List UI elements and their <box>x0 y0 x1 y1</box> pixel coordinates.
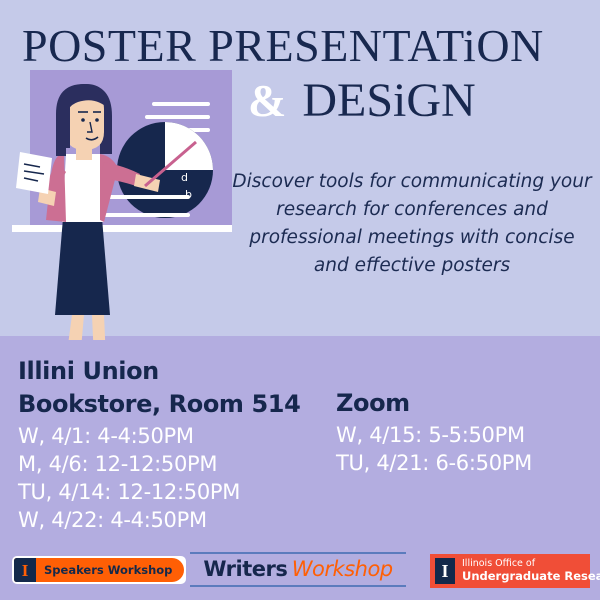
board-ledge <box>12 225 232 232</box>
figure-skirt <box>55 218 110 315</box>
illinois-i-glyph: I <box>441 562 448 580</box>
figure-top <box>62 154 104 222</box>
decorative-glyph: q <box>185 189 192 202</box>
logo-writers-workshop: Writers Workshop <box>190 552 406 587</box>
session-item: W, 4/22: 4-4:50PM <box>18 506 328 534</box>
ampersand-glyph: & <box>248 75 286 126</box>
headline-design-word: DESiGN <box>302 74 475 127</box>
description-text: Discover tools for communicating your re… <box>232 168 592 280</box>
presenter-illustration: p q <box>0 70 232 340</box>
session-item: M, 4/6: 12-12:50PM <box>18 450 328 478</box>
illinois-i-icon: I <box>435 558 455 584</box>
headline-line-2: &DESiGN <box>248 74 598 128</box>
logo-workshop-word: Workshop <box>292 557 393 581</box>
decorative-glyph: p <box>181 172 188 185</box>
session-item: TU, 4/21: 6-6:50PM <box>336 449 596 477</box>
figure-hair-side <box>56 106 70 148</box>
figure-leg <box>92 315 106 340</box>
illinois-i-icon: I <box>14 558 36 582</box>
logo-iour-line-2: Undergraduate Research <box>462 570 600 583</box>
venue-block-zoom: Zoom W, 4/15: 5-5:50PM TU, 4/21: 6-6:50P… <box>336 388 596 477</box>
venue-title-line-2: Bookstore, Room 514 <box>18 389 328 419</box>
venue-title-line-1: Illini Union <box>18 356 328 386</box>
poster-canvas: p q <box>0 0 600 600</box>
board-line <box>145 115 210 119</box>
logo-undergraduate-research: I Illinois Office of Undergraduate Resea… <box>430 554 590 588</box>
figure-eye <box>81 118 85 122</box>
session-item: W, 4/15: 5-5:50PM <box>336 421 596 449</box>
illinois-i-glyph: I <box>22 562 29 579</box>
logo-speakers-workshop: I Speakers Workshop <box>12 556 186 584</box>
venue-block-illini-union: Illini Union Bookstore, Room 514 W, 4/1:… <box>18 356 328 534</box>
logo-undergraduate-research-lines: Illinois Office of Undergraduate Researc… <box>462 559 600 583</box>
board-line <box>96 213 190 217</box>
venue-title-line-1: Zoom <box>336 388 596 418</box>
board-line <box>152 102 210 106</box>
logo-writers-word: Writers <box>203 557 287 581</box>
figure-leg <box>66 315 84 340</box>
logo-speakers-workshop-label: Speakers Workshop <box>36 558 184 582</box>
headline-line-1: POSTER PRESENTATiON <box>22 22 582 70</box>
logo-speakers-workshop-body: I Speakers Workshop <box>14 558 184 582</box>
figure-eye <box>95 118 99 122</box>
session-item: TU, 4/14: 12-12:50PM <box>18 478 328 506</box>
session-item: W, 4/1: 4-4:50PM <box>18 422 328 450</box>
